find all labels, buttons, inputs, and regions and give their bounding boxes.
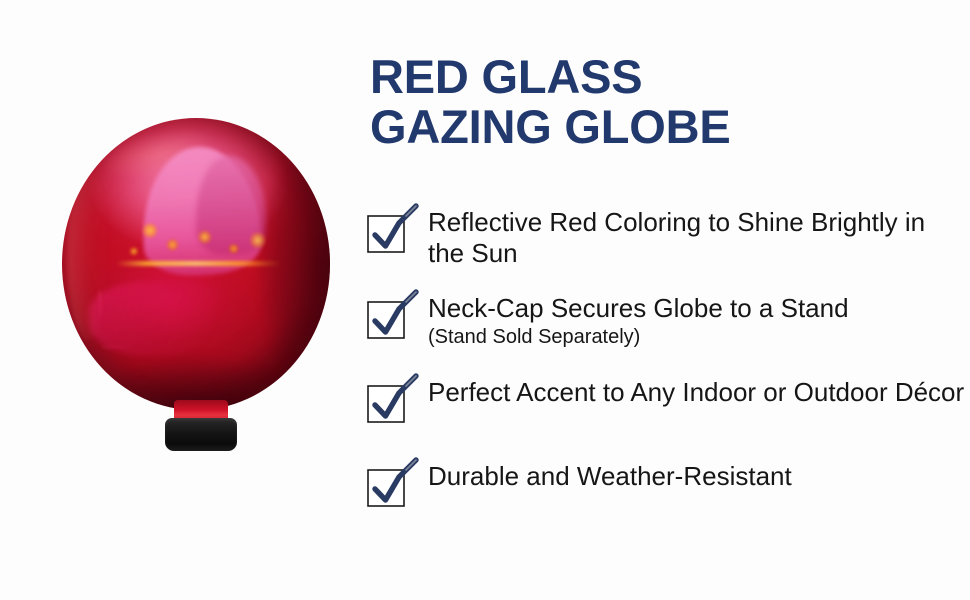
checkmark-icon (368, 470, 404, 506)
globe-left-edge-streak (67, 171, 110, 340)
product-image-panel (0, 0, 350, 600)
checkmark-icon (368, 386, 404, 422)
feature-label: Neck-Cap Secures Globe to a Stand (428, 293, 968, 324)
page-title: RED GLASS GAZING GLOBE (370, 52, 970, 152)
feature-item: Durable and Weather-Resistant (368, 459, 968, 521)
gazing-globe-illustration (62, 118, 334, 463)
product-infographic: RED GLASS GAZING GLOBE Reflective Red Co… (0, 0, 970, 600)
feature-item: Neck-Cap Secures Globe to a Stand (Stand… (368, 291, 968, 353)
checkmark-icon (368, 216, 404, 252)
content-panel: RED GLASS GAZING GLOBE Reflective Red Co… (368, 0, 970, 600)
feature-text: Durable and Weather-Resistant (428, 459, 968, 492)
feature-label: Durable and Weather-Resistant (428, 461, 968, 492)
globe-neck-cap (165, 418, 237, 451)
feature-sublabel: (Stand Sold Separately) (428, 325, 968, 350)
feature-label: Perfect Accent to Any Indoor or Outdoor … (428, 377, 968, 408)
globe-bottom-shading (83, 328, 308, 410)
feature-text: Perfect Accent to Any Indoor or Outdoor … (428, 375, 968, 408)
feature-text: Reflective Red Coloring to Shine Brightl… (428, 205, 968, 269)
feature-list: Reflective Red Coloring to Shine Brightl… (368, 205, 968, 521)
feature-item: Reflective Red Coloring to Shine Brightl… (368, 205, 968, 269)
feature-item: Perfect Accent to Any Indoor or Outdoor … (368, 375, 968, 437)
feature-label: Reflective Red Coloring to Shine Brightl… (428, 207, 968, 269)
globe-sphere (62, 118, 330, 410)
feature-text: Neck-Cap Secures Globe to a Stand (Stand… (428, 291, 968, 350)
checkmark-icon (368, 302, 404, 338)
